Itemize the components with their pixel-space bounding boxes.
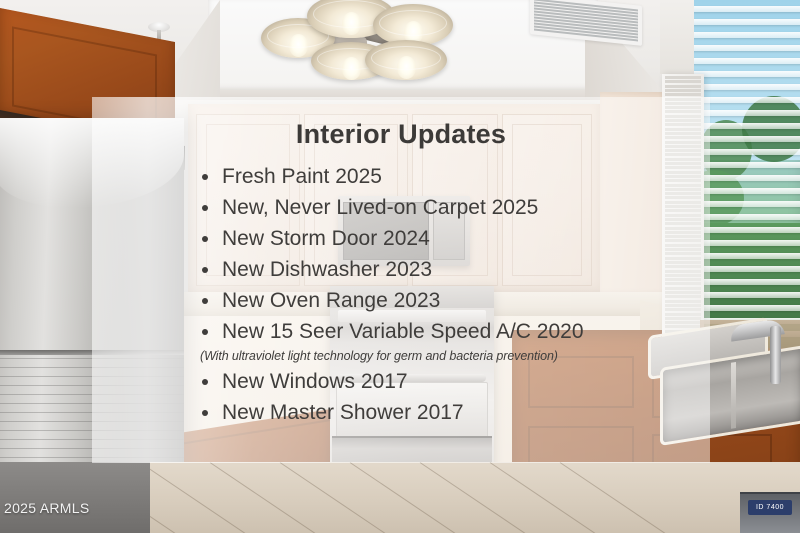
floor-shadow (0, 462, 150, 533)
bullet-icon (202, 410, 208, 416)
update-list-item: New Dishwasher 2023 (200, 258, 720, 282)
sink-divider (731, 362, 736, 429)
update-list-item-label: New Storm Door 2024 (222, 227, 430, 250)
mls-watermark: 2025 ARMLS (4, 500, 90, 516)
update-list-item: New Oven Range 2023 (200, 289, 720, 313)
bullet-icon (202, 298, 208, 304)
fire-sprinkler-icon (148, 22, 170, 32)
update-list-item: New Windows 2017 (200, 370, 720, 394)
bullet-icon (202, 174, 208, 180)
bullet-icon (202, 205, 208, 211)
bullet-icon (202, 379, 208, 385)
bullet-icon (202, 236, 208, 242)
update-list-item: Fresh Paint 2025 (200, 165, 720, 189)
light-shade (365, 40, 447, 80)
update-list-item: New Storm Door 2024 (200, 227, 720, 251)
bullet-icon (202, 267, 208, 273)
updates-list: Fresh Paint 2025New, Never Lived-on Carp… (200, 165, 720, 432)
update-list-item: New 15 Seer Variable Speed A/C 2020 (200, 320, 720, 344)
faucet-neck (770, 326, 781, 384)
bullet-icon (202, 329, 208, 335)
faucet (744, 322, 800, 386)
listing-photo: ID 7400 Interior Updates Fresh Paint 202… (0, 0, 800, 533)
update-list-item: New, Never Lived-on Carpet 2025 (200, 196, 720, 220)
update-note: (With ultraviolet light technology for g… (200, 349, 720, 363)
update-list-item-label: New Master Shower 2017 (222, 401, 464, 424)
update-list-item: New Master Shower 2017 (200, 401, 720, 425)
overlay-title: Interior Updates (92, 119, 710, 150)
update-list-item-label: New Windows 2017 (222, 370, 408, 393)
interior-updates-overlay: Interior Updates Fresh Paint 2025New, Ne… (92, 97, 710, 463)
ceiling-light-fixture (255, 0, 445, 88)
update-list-item-label: New Dishwasher 2023 (222, 258, 432, 281)
update-list-item-label: New, Never Lived-on Carpet 2025 (222, 196, 538, 219)
update-list-item-label: Fresh Paint 2025 (222, 165, 382, 188)
update-list-item-label: New Oven Range 2023 (222, 289, 440, 312)
update-list-item-label: New 15 Seer Variable Speed A/C 2020 (222, 320, 584, 343)
appliance-badge: ID 7400 (748, 500, 792, 515)
